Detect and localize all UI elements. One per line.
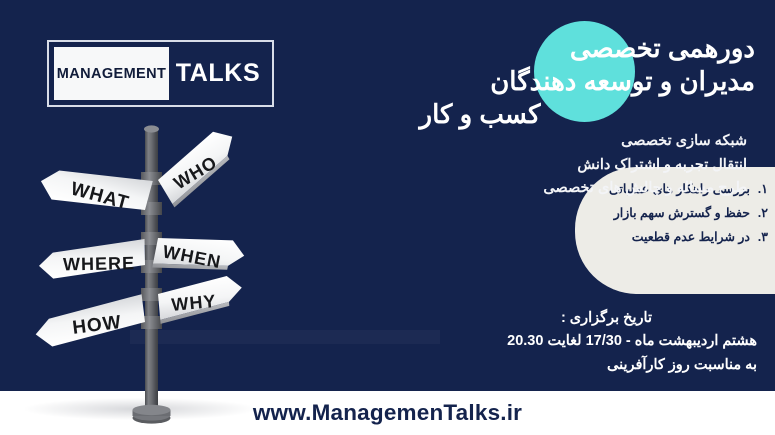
signpost-arrow-how: HOW: [32, 294, 146, 348]
list-item-number: ۱.: [754, 181, 768, 196]
event-date-label: تاریخ برگزاری :: [337, 307, 757, 330]
signpost-arrow-what: WHAT: [37, 153, 153, 223]
headline-line-1: دورهمی تخصصی: [335, 32, 755, 65]
logo-word-management: MANAGEMENT: [57, 66, 167, 82]
event-date-value: هشتم اردیبهشت ماه - 17/30 لغایت 20.30: [337, 330, 757, 353]
list-item: انتقال تجربه و اشتراک دانش: [447, 154, 747, 178]
list-item: طرح مساله و چالش های تخصصی: [447, 177, 747, 201]
signpost-arrow-when: WHEN: [152, 226, 246, 284]
management-talks-logo: MANAGEMENT TALKS: [47, 40, 274, 107]
logo-dark-block: TALKS: [169, 47, 267, 100]
signpost-svg: WHO WHAT WHEN WHERE WHY: [0, 110, 300, 435]
poster-canvas: MANAGEMENT TALKS دورهمی تخصصی مدیران و ت…: [0, 0, 775, 435]
list-item-number: ۲.: [754, 205, 768, 220]
list-item-label: حفظ و گسترش سهم بازار: [614, 205, 750, 220]
list-item: ۳. در شرایط عدم قطعیت: [609, 229, 768, 244]
event-details: تاریخ برگزاری : هشتم اردیبهشت ماه - 17/3…: [337, 307, 757, 377]
signpost-arrow-label: WHERE: [63, 253, 135, 274]
list-item-number: ۳.: [754, 229, 768, 244]
signpost-arrow-who: WHO: [151, 125, 248, 208]
list-item: ۲. حفظ و گسترش سهم بازار: [609, 205, 768, 220]
headline-line-3: کسب و کار: [335, 98, 755, 131]
logo-word-talks: TALKS: [176, 59, 260, 88]
event-occasion: به مناسبت روز کارآفرینی: [337, 354, 757, 377]
signpost-arrow-where: WHERE: [39, 239, 146, 279]
list-item: شبکه سازی تخصصی: [447, 130, 747, 154]
headline-line-2: مدیران و توسعه دهندگان: [335, 65, 755, 98]
list-item-label: در شرایط عدم قطعیت: [632, 229, 750, 244]
signpost-arrow-why: WHY: [157, 275, 244, 324]
logo-inner-frame: MANAGEMENT TALKS: [54, 47, 267, 100]
feature-list: شبکه سازی تخصصی انتقال تجربه و اشتراک دا…: [447, 130, 747, 201]
signpost-illustration: WHO WHAT WHEN WHERE WHY: [0, 110, 300, 435]
page-title: دورهمی تخصصی مدیران و توسعه دهندگان کسب …: [335, 32, 755, 131]
logo-white-block: MANAGEMENT: [54, 47, 169, 100]
signpost-arrow-label: WHY: [171, 291, 218, 315]
